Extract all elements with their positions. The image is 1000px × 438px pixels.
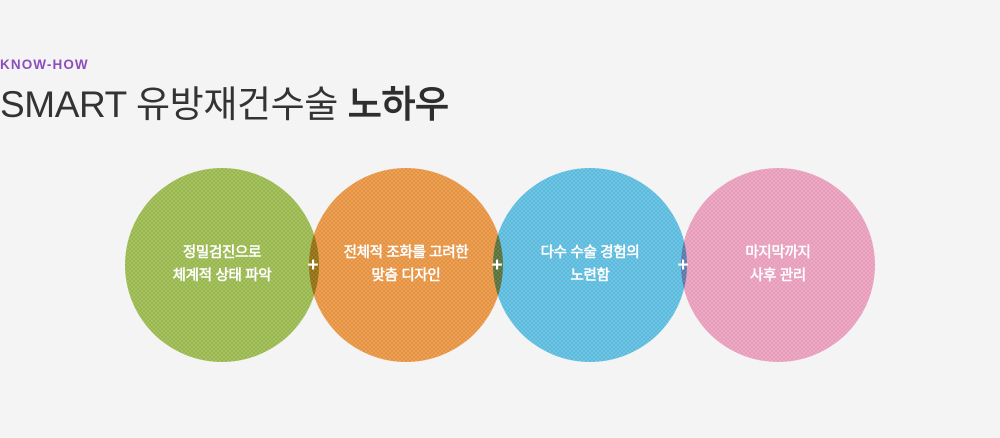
venn-circle-1 bbox=[125, 168, 319, 362]
plus-separator-3: + bbox=[672, 255, 694, 277]
know-how-section: KNOW-HOW SMART 유방재건수술 노하우 정밀검진으로 체계적 상태 … bbox=[0, 0, 1000, 438]
page-title-light: SMART 유방재건수술 bbox=[0, 84, 348, 125]
venn-circle-4 bbox=[681, 168, 875, 362]
page-title: SMART 유방재건수술 노하우 bbox=[0, 85, 700, 125]
plus-separator-2: + bbox=[486, 255, 508, 277]
venn-circle-3 bbox=[493, 168, 687, 362]
section-header: KNOW-HOW SMART 유방재건수술 노하우 bbox=[0, 58, 700, 124]
plus-separator-1: + bbox=[302, 255, 324, 277]
eyebrow-label: KNOW-HOW bbox=[0, 58, 700, 72]
page-title-strong: 노하우 bbox=[348, 84, 449, 125]
venn-circle-2 bbox=[309, 168, 503, 362]
